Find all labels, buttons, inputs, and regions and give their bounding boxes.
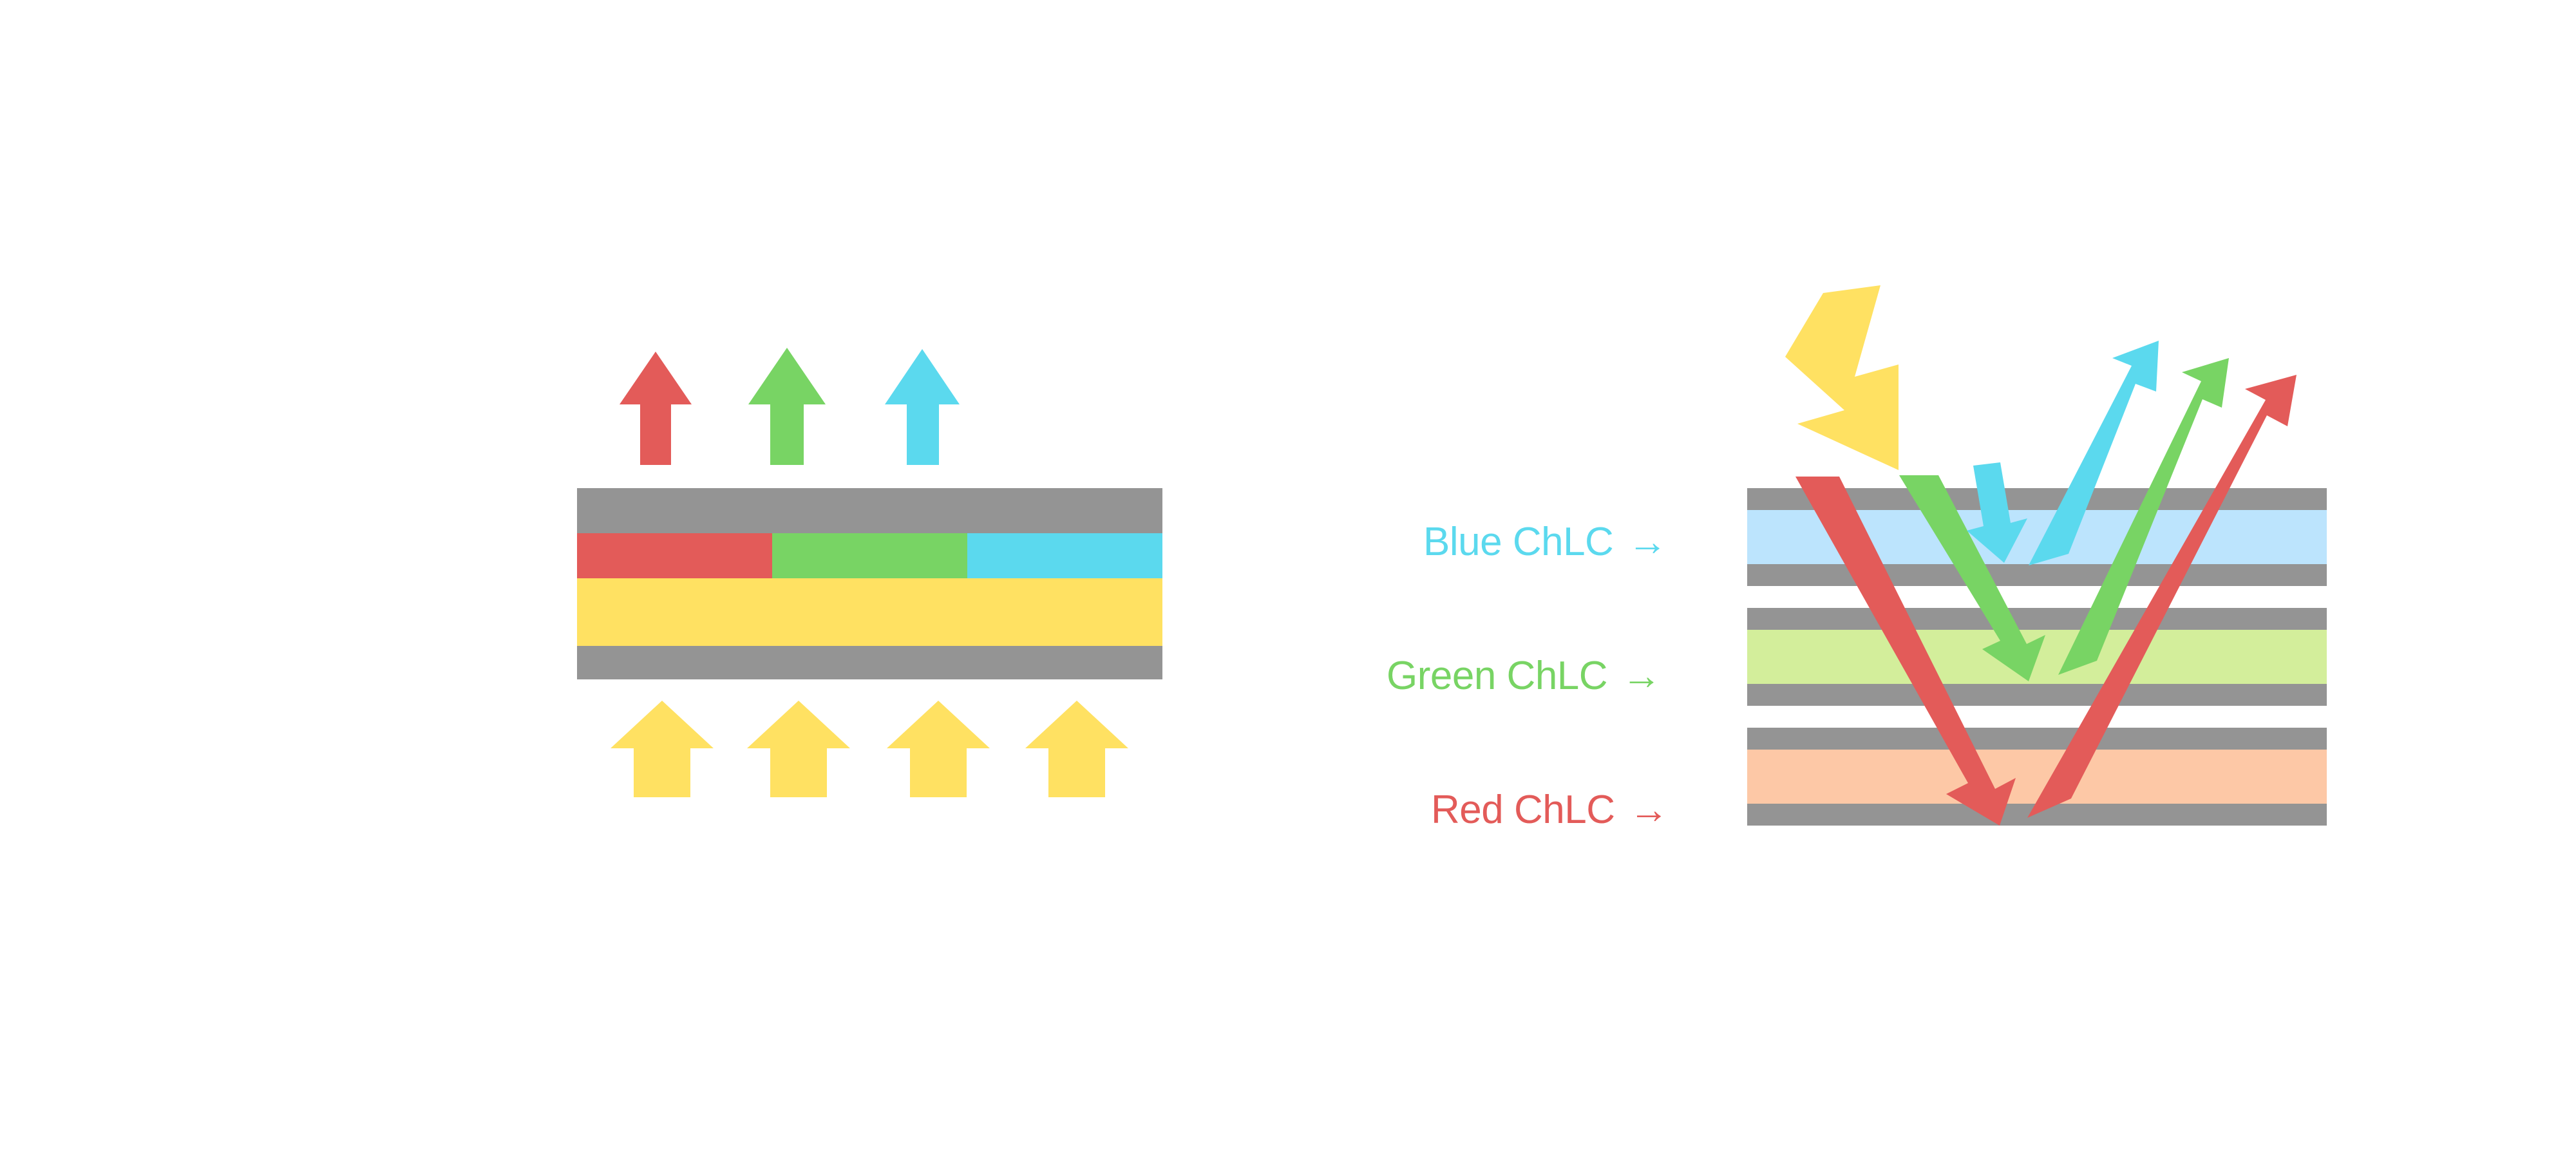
- red-chlc-layer: [1747, 750, 2327, 804]
- yellow-backlight-arrow: [1025, 701, 1128, 797]
- yellow-backlight-arrow: [611, 701, 714, 797]
- green-cell-bottom-electrode: [1747, 684, 2327, 706]
- blue-chlc-label: Blue ChLC→: [1423, 519, 1667, 565]
- top-gray-layer: [577, 488, 1162, 533]
- bottom-gray-layer: [577, 646, 1162, 679]
- yellow-backlight-arrow: [887, 701, 990, 797]
- green-chlc-label-text: Green ChLC: [1387, 654, 1607, 698]
- yellow-backlight-layer: [577, 578, 1162, 646]
- blue-chlc-label-text: Blue ChLC: [1423, 520, 1613, 564]
- green-emitted-arrow: [748, 348, 826, 465]
- green-chlc-label-arrow: →: [1622, 654, 1662, 698]
- red-chlc-label-arrow: →: [1629, 788, 1669, 832]
- blue-cell-bottom-electrode: [1747, 564, 2327, 586]
- left-panel-graphics: [0, 0, 2576, 1154]
- red-chlc-label-text: Red ChLC: [1431, 788, 1615, 832]
- yellow-backlight-arrow: [747, 701, 850, 797]
- diagram-canvas: Blue ChLC→ Green ChLC→ Red ChLC→: [0, 0, 2576, 1154]
- incident-white-light-arrow: [1785, 285, 1899, 470]
- left-stack: [577, 488, 1162, 679]
- red-cell-top-electrode: [1747, 728, 2327, 750]
- cyan-emitted-arrow: [885, 349, 960, 465]
- red-chlc-label: Red ChLC→: [1431, 787, 1669, 833]
- red-filter-segment: [577, 533, 772, 578]
- red-emitted-arrow: [620, 352, 692, 465]
- green-chlc-label: Green ChLC→: [1387, 653, 1662, 699]
- yellow-backlight-arrows: [611, 701, 1128, 797]
- cyan-filter-segment: [967, 533, 1162, 578]
- green-cell-top-electrode: [1747, 608, 2327, 630]
- blue-chlc-label-arrow: →: [1627, 520, 1667, 564]
- green-filter-segment: [772, 533, 967, 578]
